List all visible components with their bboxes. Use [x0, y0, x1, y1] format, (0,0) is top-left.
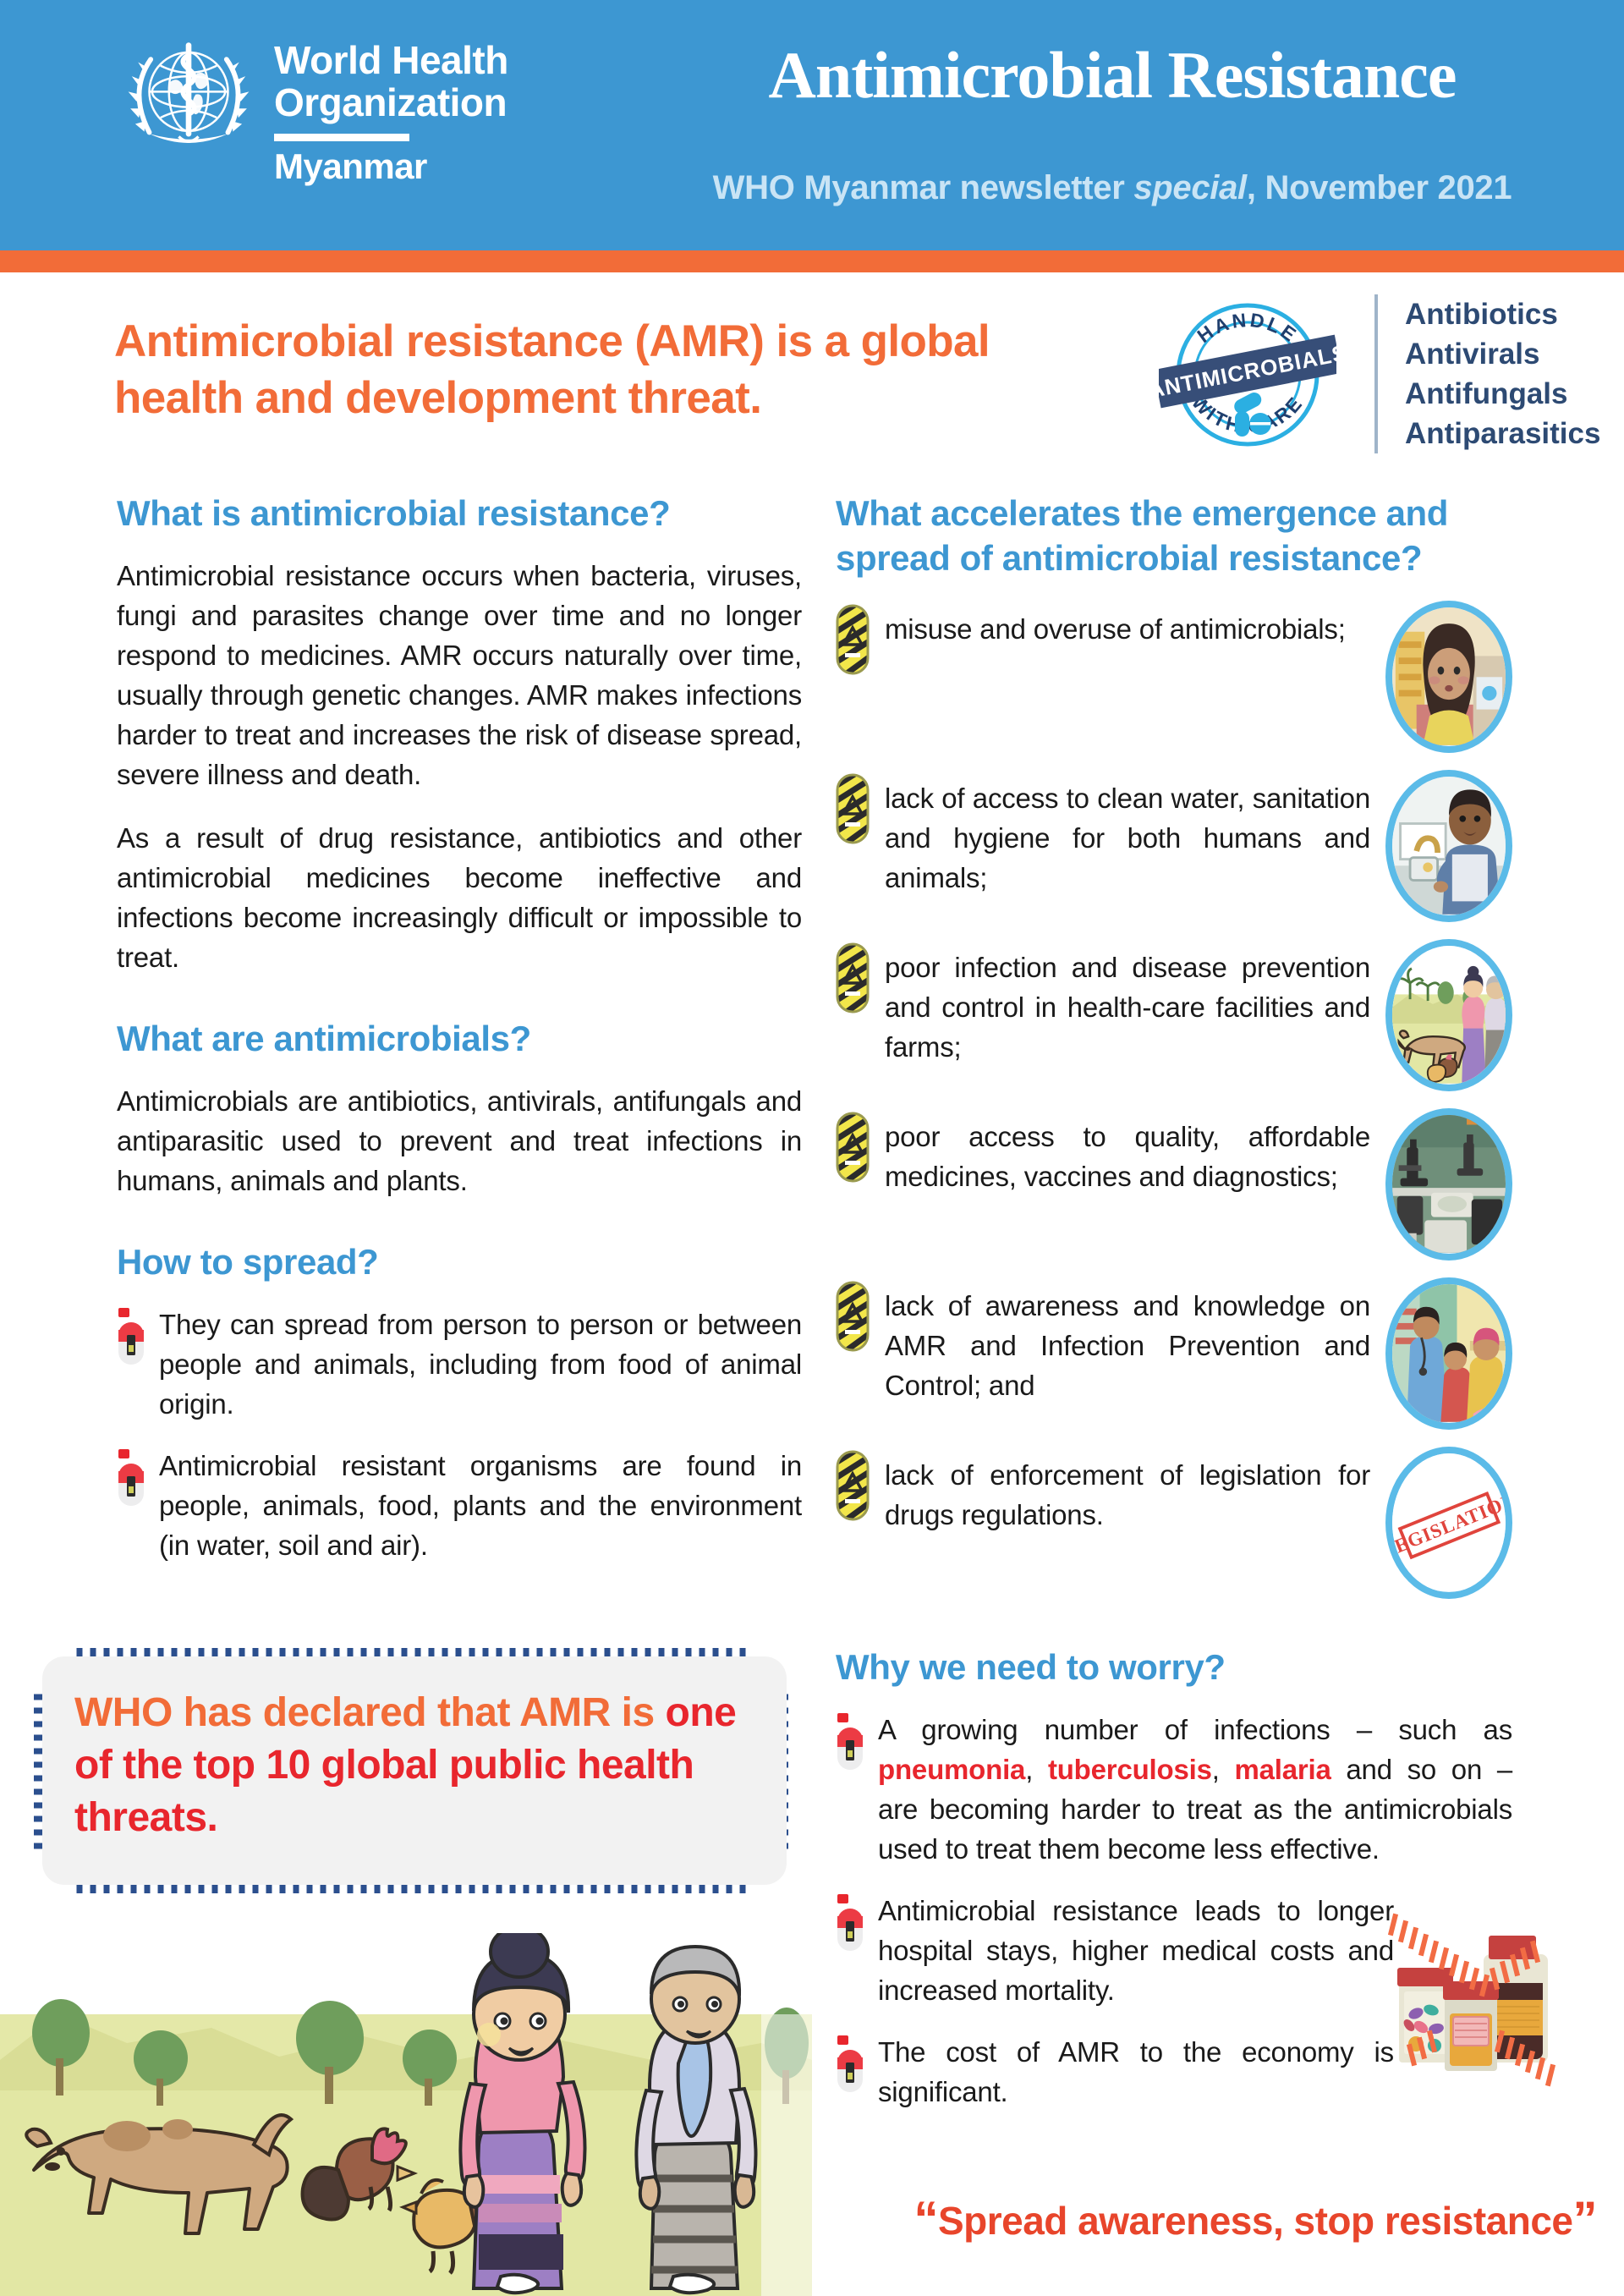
subtitle-emphasis: special: [1133, 169, 1247, 206]
capsule-pill-icon: [836, 1892, 864, 1957]
paragraph-what-is-amr-1: Antimicrobial resistance occurs when bac…: [117, 556, 802, 794]
hazard-capsule-icon: [836, 942, 870, 1013]
list-item-text: The cost of AMR to the economy is signif…: [878, 2032, 1394, 2112]
who-org-line2: Organization: [274, 81, 508, 124]
open-quote: “: [913, 2192, 938, 2247]
class-antibiotics: Antibiotics: [1405, 294, 1600, 334]
who-org-line1: World Health: [274, 39, 508, 81]
who-country-label: Myanmar: [274, 148, 508, 185]
who-emblem-icon: [118, 27, 259, 168]
laboratory-microscope-photo: [1385, 1108, 1512, 1261]
who-divider: [274, 134, 409, 141]
disease-pneumonia: pneumonia: [878, 1754, 1025, 1785]
hazard-capsule-icon: [836, 1450, 870, 1521]
handle-antimicrobials-with-care-badge: HANDLE WITH CARE ANTIMICROBIALS: [1159, 286, 1336, 464]
list-item-text: misuse and overuse of antimicrobials;: [885, 601, 1370, 649]
antimicrobial-classes-list: Antibiotics Antivirals Antifungals Antip…: [1374, 294, 1600, 453]
paragraph-what-is-amr-2: As a result of drug resistance, antibiot…: [117, 818, 802, 977]
handwashing-photo: [1385, 770, 1512, 922]
campaign-tagline: “Spread awareness, stop resistance”: [836, 2191, 1597, 2248]
woman-at-pharmacy-photo: [1385, 601, 1512, 753]
capsule-pill-icon: [117, 1447, 145, 1512]
who-declaration-box: WHO has declared that AMR is one of the …: [42, 1656, 787, 1885]
separator-2: ,: [1212, 1754, 1235, 1785]
list-item: Antimicrobial resistance leads to longer…: [836, 1891, 1394, 2010]
banner-headline: Antimicrobial resistance (AMR) is a glob…: [114, 313, 1121, 426]
hazard-capsule-icon: [836, 1281, 870, 1352]
list-item-text: Antimicrobial resistance leads to longer…: [878, 1891, 1394, 2010]
capsule-pill-icon: [836, 1711, 864, 1776]
list-item: lack of enforcement of legislation for d…: [836, 1447, 1512, 1599]
class-antiparasitics: Antiparasitics: [1405, 414, 1600, 453]
declaration-line-orange: WHO has declared that AMR is: [74, 1690, 655, 1735]
list-item-text: lack of enforcement of legislation for d…: [885, 1447, 1370, 1535]
page-title: Antimicrobial Resistance: [643, 39, 1582, 112]
village-walk-illustration: [0, 1933, 812, 2296]
list-item: misuse and overuse of antimicrobials;: [836, 601, 1512, 753]
list-item: They can spread from person to person or…: [117, 1305, 802, 1424]
health-worker-counselling-photo: [1385, 1277, 1512, 1430]
hazard-capsule-icon: [836, 604, 870, 675]
list-item-text: A growing number of infections – such as…: [878, 1710, 1512, 1869]
capsule-pill-icon: [836, 2034, 864, 2098]
hazard-capsule-icon: [836, 1112, 870, 1183]
left-column: What is antimicrobial resistance? Antimi…: [117, 491, 802, 1587]
disease-malaria: malaria: [1234, 1754, 1330, 1785]
paragraph-what-are-antimicrobials: Antimicrobials are antibiotics, antivira…: [117, 1081, 802, 1200]
subtitle-pre: WHO Myanmar newsletter: [713, 169, 1134, 206]
subtitle-post: , November 2021: [1247, 169, 1512, 206]
list-item-text: poor access to quality, affordable medic…: [885, 1108, 1370, 1196]
declaration-text: WHO has declared that AMR is one of the …: [74, 1687, 760, 1844]
list-item: Antimicrobial resistant organisms are fo…: [117, 1446, 802, 1565]
class-antivirals: Antivirals: [1405, 334, 1600, 374]
page-header: World Health Organization Myanmar Antimi…: [0, 0, 1624, 250]
village-farm-photo: [1385, 939, 1512, 1091]
heading-what-are-antimicrobials: What are antimicrobials?: [117, 1016, 802, 1061]
legislation-stamp-photo: LEGISLATION: [1385, 1447, 1512, 1599]
capsule-pill-icon: [117, 1306, 145, 1370]
list-item: A growing number of infections – such as…: [836, 1710, 1512, 1869]
close-quote: ”: [1573, 2192, 1598, 2247]
list-item-text: lack of awareness and knowledge on AMR a…: [885, 1277, 1370, 1405]
list-item-text: poor infection and disease prevention an…: [885, 939, 1370, 1067]
list-item: lack of awareness and knowledge on AMR a…: [836, 1277, 1512, 1430]
heading-what-accelerates: What accelerates the emergence and sprea…: [836, 491, 1512, 580]
page-subtitle: WHO Myanmar newsletter special, November…: [643, 169, 1582, 207]
list-item-text: They can spread from person to person or…: [159, 1305, 802, 1424]
tagline-text: Spread awareness, stop resistance: [938, 2199, 1573, 2243]
separator-1: ,: [1025, 1754, 1048, 1785]
list-item: lack of access to clean water, sanitatio…: [836, 770, 1512, 922]
medicine-bottles-declining-graph-illustration: [1379, 1887, 1590, 2098]
heading-what-is-amr: What is antimicrobial resistance?: [117, 491, 802, 536]
class-antifungals: Antifungals: [1405, 374, 1600, 414]
worry-pre-text: A growing number of infections – such as: [878, 1714, 1512, 1745]
heading-how-to-spread: How to spread?: [117, 1239, 802, 1284]
list-item-text: lack of access to clean water, sanitatio…: [885, 770, 1370, 898]
orange-accent-bar: [0, 250, 1624, 272]
disease-tuberculosis: tuberculosis: [1048, 1754, 1212, 1785]
heading-why-we-need-to-worry: Why we need to worry?: [836, 1645, 1512, 1689]
who-logo-block: World Health Organization Myanmar: [118, 27, 508, 185]
list-item-text: Antimicrobial resistant organisms are fo…: [159, 1446, 802, 1565]
list-item: The cost of AMR to the economy is signif…: [836, 2032, 1394, 2112]
hazard-capsule-icon: [836, 773, 870, 844]
list-item: poor infection and disease prevention an…: [836, 939, 1512, 1091]
list-item: poor access to quality, affordable medic…: [836, 1108, 1512, 1261]
